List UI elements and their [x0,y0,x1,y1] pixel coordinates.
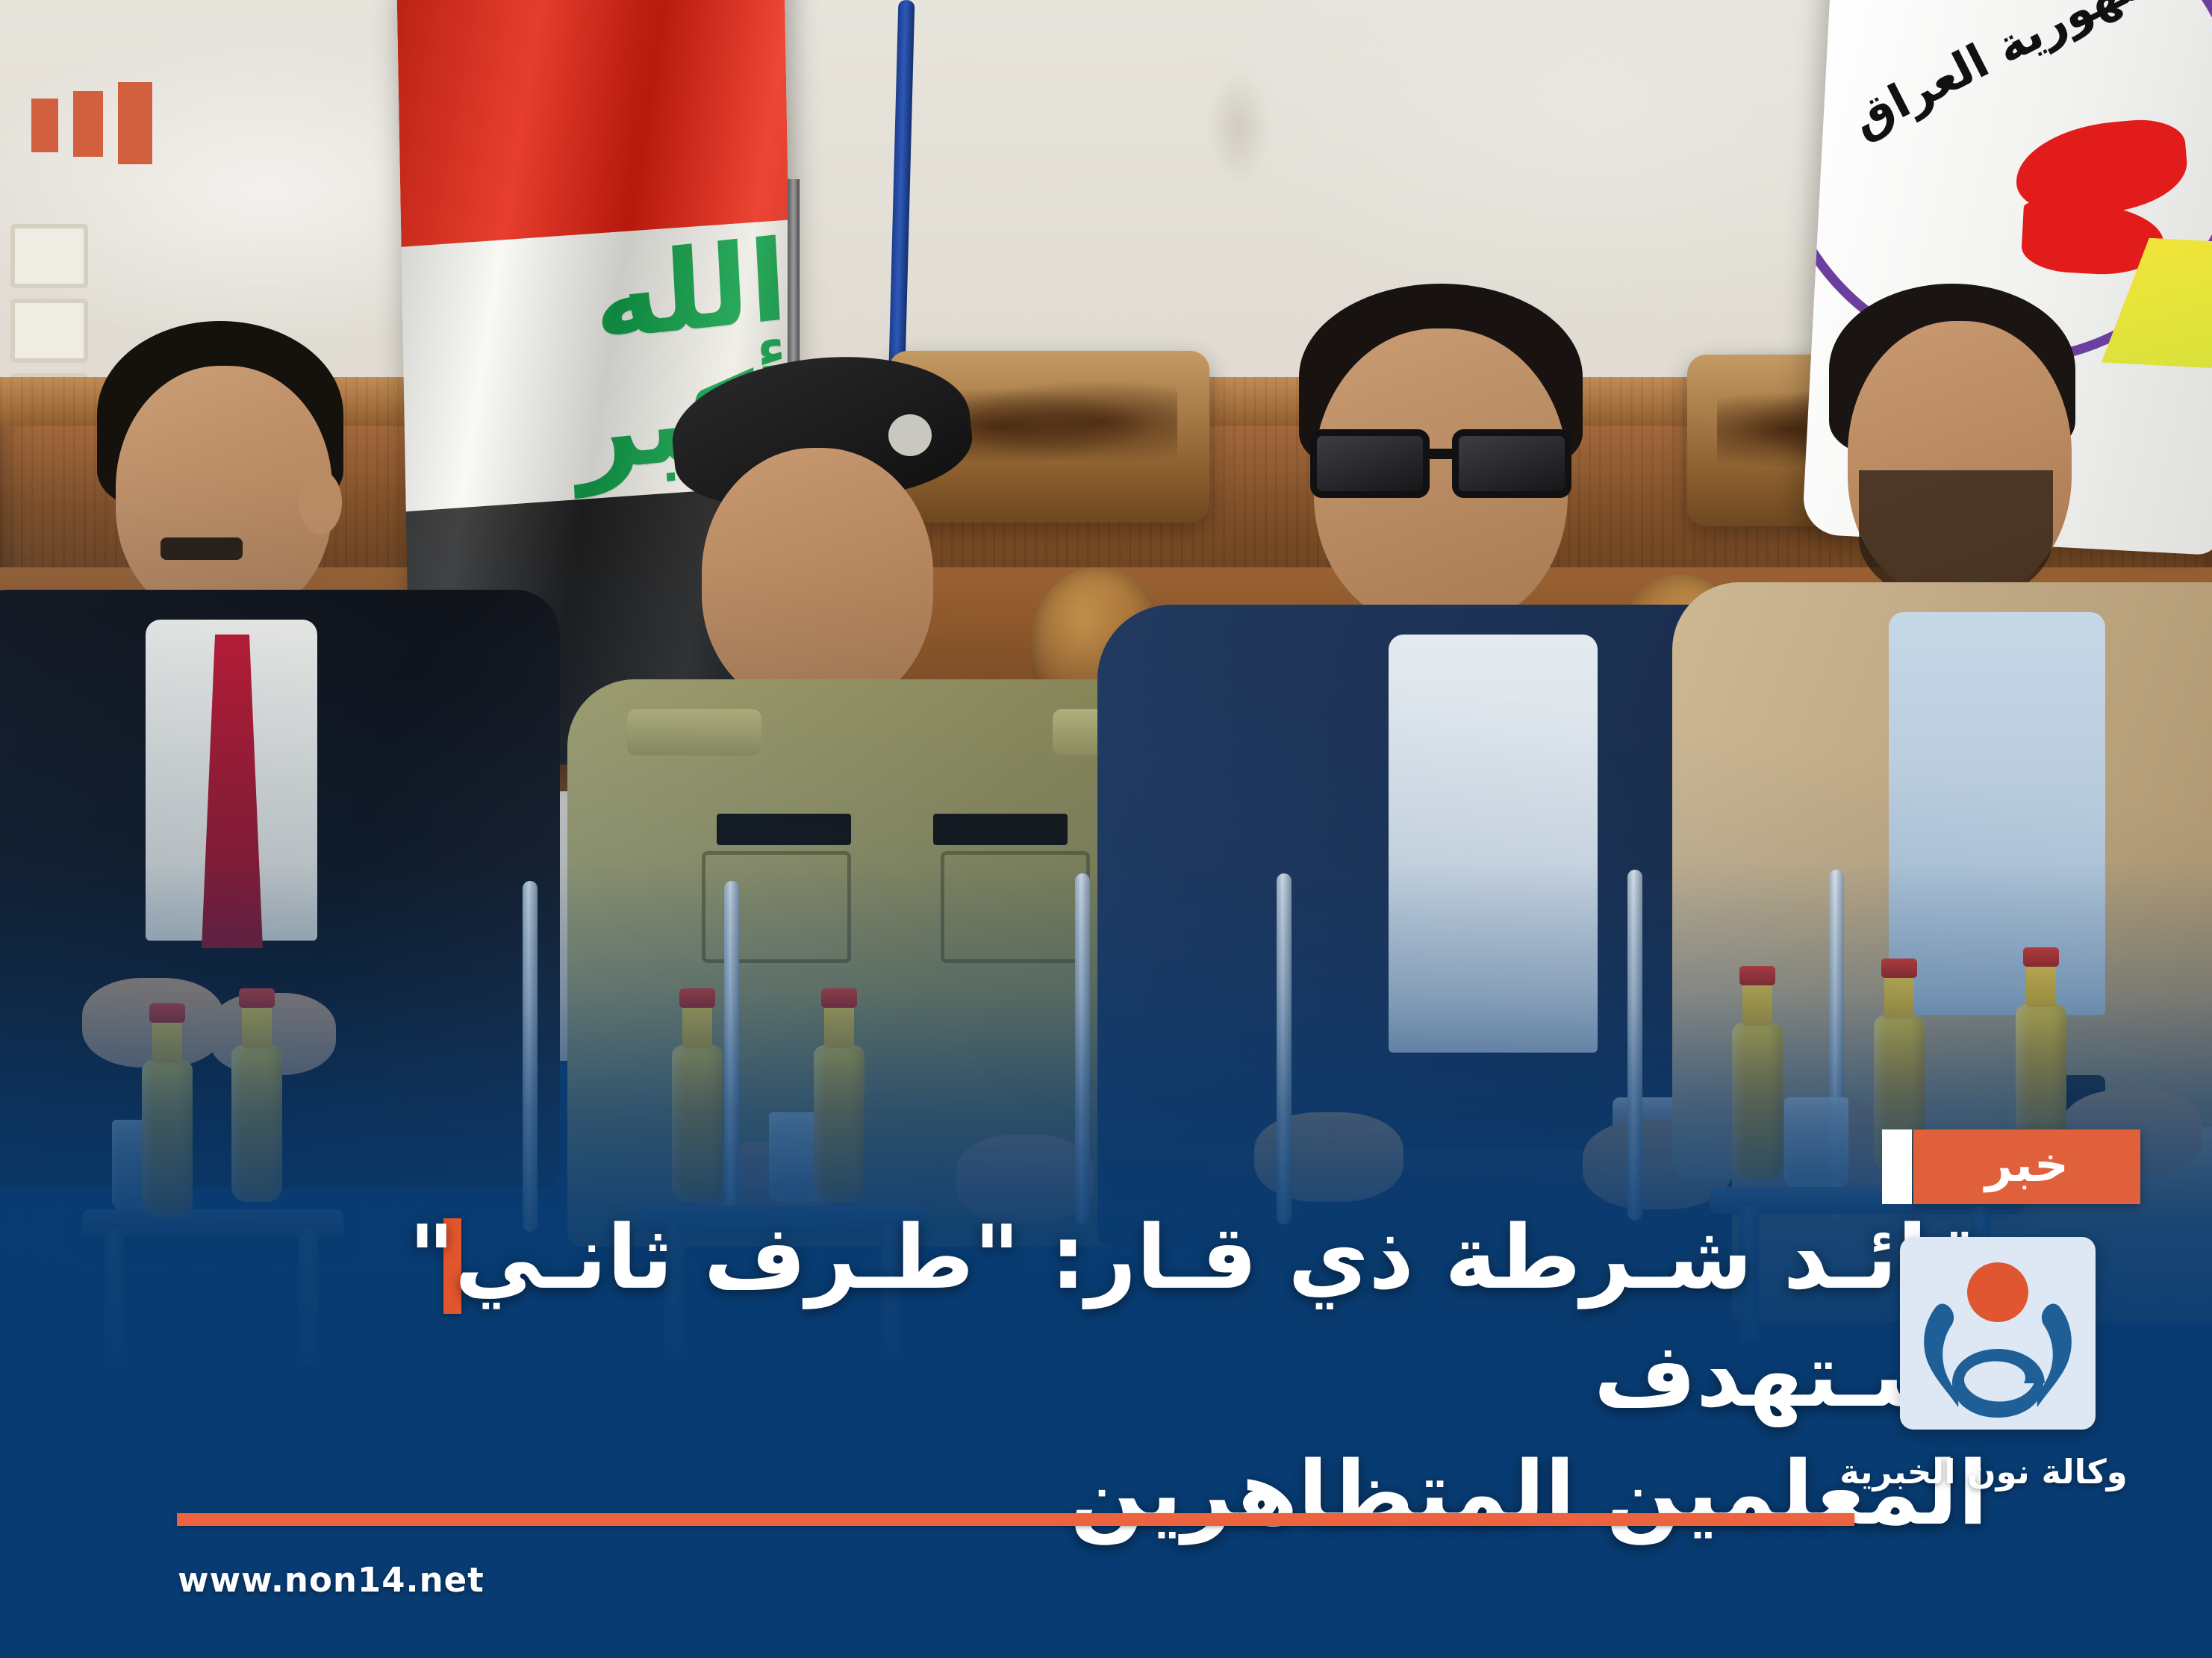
headline-line-2: المعلمين المتظاهرين [353,1434,1988,1552]
headline: قائـد شـرطة ذي قـار: "طـرف ثانـي" اسـتهد… [353,1198,1988,1552]
badge-white-tick [1882,1129,1912,1204]
footer-divider [177,1513,1854,1526]
brand-bar-3 [31,99,58,152]
headline-line-1: قائـد شـرطة ذي قـار: "طـرف ثانـي" اسـتهد… [408,1206,1988,1427]
website-url[interactable]: www.non14.net [178,1560,485,1600]
logo-noon-glyph [1913,1303,2082,1421]
badge-label: خبر [1985,1138,2069,1193]
brand-bar-1 [118,82,152,164]
news-card: الله أكبر جمهورية العراق [0,0,2212,1658]
noon-agency-logo-icon[interactable] [1900,1237,2096,1430]
status-badge: خبر [1913,1129,2140,1204]
brand-bar-2 [73,91,103,157]
brand-block: خبر وكالة نون الخبرية [1827,1129,2140,1492]
agency-name: وكالة نون الخبرية [1827,1452,2140,1492]
brand-bars-mark [31,82,152,164]
